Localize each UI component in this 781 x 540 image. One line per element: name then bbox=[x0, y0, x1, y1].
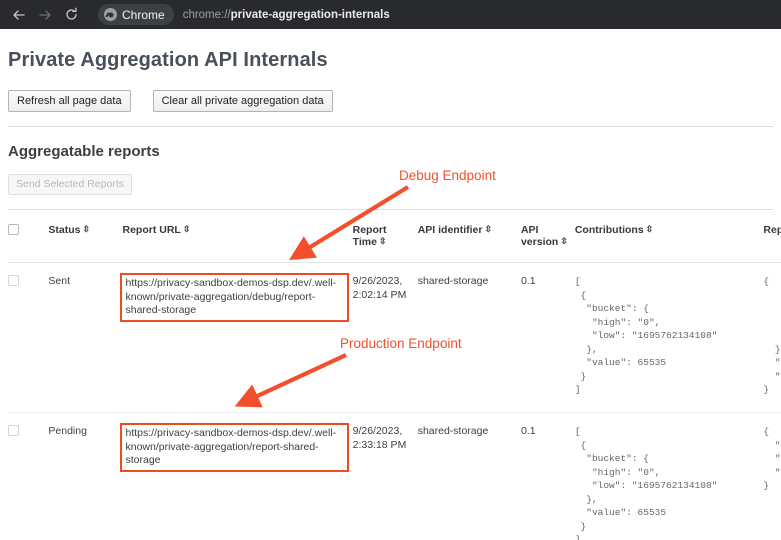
row-status: Pending bbox=[48, 413, 122, 540]
page-content: Private Aggregation API Internals Refres… bbox=[0, 29, 781, 540]
section-title-aggregatable-reports: Aggregatable reports bbox=[8, 143, 773, 160]
row-contributions: [ { "bucket": { "high": "0", "low": "169… bbox=[575, 413, 764, 540]
section-divider bbox=[8, 126, 773, 127]
reload-icon[interactable] bbox=[58, 2, 84, 28]
select-all-checkbox[interactable] bbox=[8, 224, 19, 235]
row-api-version: 0.1 bbox=[521, 263, 575, 413]
row-select-cell bbox=[8, 263, 48, 413]
header-contributions[interactable]: Contributions⇳ bbox=[575, 210, 764, 263]
header-select-all bbox=[8, 210, 48, 263]
header-api-identifier[interactable]: API identifier⇳ bbox=[418, 210, 521, 263]
refresh-all-page-data-button[interactable]: Refresh all page data bbox=[8, 90, 131, 112]
clear-all-private-aggregation-data-button[interactable]: Clear all private aggregation data bbox=[153, 90, 333, 112]
back-arrow-icon[interactable] bbox=[6, 2, 32, 28]
row-report-body: { "aggregatio "debug_key" "shared_inf } bbox=[763, 413, 781, 540]
aggregatable-reports-table: Status⇳ Report URL⇳ Report Time⇳ API ide… bbox=[8, 210, 781, 540]
row-report-url[interactable]: https://privacy-sandbox-demos-dsp.dev/.w… bbox=[122, 425, 346, 470]
row-checkbox[interactable] bbox=[8, 275, 19, 286]
report-body-json: { "aggregatio "debug_key" "shared_inf } bbox=[763, 425, 781, 493]
sort-icon[interactable]: ⇳ bbox=[183, 225, 191, 234]
page-title: Private Aggregation API Internals bbox=[8, 49, 773, 72]
row-contributions: [ { "bucket": { "high": "0", "low": "169… bbox=[575, 263, 764, 413]
address-bar-url: chrome://private-aggregation-internals bbox=[183, 9, 390, 21]
origin-chip-label: Chrome bbox=[122, 8, 165, 22]
page-actions: Refresh all page data Clear all private … bbox=[8, 90, 773, 112]
header-status[interactable]: Status⇳ bbox=[48, 210, 122, 263]
header-report-body[interactable]: Report Body⇳ bbox=[763, 210, 781, 263]
report-body-json: { "aggregatio "debug_c "key_id" "payload… bbox=[763, 275, 781, 397]
row-report-url[interactable]: https://privacy-sandbox-demos-dsp.dev/.w… bbox=[122, 275, 346, 320]
header-api-identifier-label: API identifier bbox=[418, 224, 483, 236]
row-status: Sent bbox=[48, 263, 122, 413]
header-report-time[interactable]: Report Time⇳ bbox=[353, 210, 418, 263]
sort-icon[interactable]: ⇳ bbox=[484, 225, 492, 234]
reports-table-container: Status⇳ Report URL⇳ Report Time⇳ API ide… bbox=[8, 209, 773, 540]
header-api-version-label: API version bbox=[521, 224, 558, 248]
row-report-url-cell: https://privacy-sandbox-demos-dsp.dev/.w… bbox=[122, 413, 352, 540]
row-api-identifier: shared-storage bbox=[418, 413, 521, 540]
header-status-label: Status bbox=[48, 224, 80, 236]
send-selected-reports-button[interactable]: Send Selected Reports bbox=[8, 174, 132, 195]
header-report-body-label: Report Body bbox=[763, 224, 781, 236]
contributions-json: [ { "bucket": { "high": "0", "low": "169… bbox=[575, 275, 758, 397]
header-contributions-label: Contributions bbox=[575, 224, 644, 236]
sort-icon[interactable]: ⇳ bbox=[83, 225, 91, 234]
annotation-label-debug-endpoint: Debug Endpoint bbox=[399, 168, 496, 183]
header-api-version[interactable]: API version⇳ bbox=[521, 210, 575, 263]
table-body: Sent https://privacy-sandbox-demos-dsp.d… bbox=[8, 263, 781, 540]
forward-arrow-icon[interactable] bbox=[32, 2, 58, 28]
contributions-json: [ { "bucket": { "high": "0", "low": "169… bbox=[575, 425, 758, 540]
origin-chip[interactable]: Chrome bbox=[98, 4, 174, 25]
row-report-time: 9/26/2023, 2:33:18 PM bbox=[353, 413, 418, 540]
table-head: Status⇳ Report URL⇳ Report Time⇳ API ide… bbox=[8, 210, 781, 263]
sort-icon[interactable]: ⇳ bbox=[379, 237, 387, 246]
row-report-url-cell: https://privacy-sandbox-demos-dsp.dev/.w… bbox=[122, 263, 352, 413]
row-select-cell bbox=[8, 413, 48, 540]
header-report-url-label: Report URL bbox=[122, 224, 180, 236]
table-header-row: Status⇳ Report URL⇳ Report Time⇳ API ide… bbox=[8, 210, 781, 263]
sort-icon[interactable]: ⇳ bbox=[646, 225, 654, 234]
sort-icon[interactable]: ⇳ bbox=[560, 237, 568, 246]
row-checkbox[interactable] bbox=[8, 425, 19, 436]
header-report-url[interactable]: Report URL⇳ bbox=[122, 210, 352, 263]
browser-toolbar: Chrome chrome://private-aggregation-inte… bbox=[0, 0, 781, 29]
address-bar[interactable]: Chrome chrome://private-aggregation-inte… bbox=[92, 4, 775, 25]
row-report-body: { "aggregatio "debug_c "key_id" "payload… bbox=[763, 263, 781, 413]
table-row: Pending https://privacy-sandbox-demos-ds… bbox=[8, 413, 781, 540]
annotation-label-production-endpoint: Production Endpoint bbox=[340, 336, 462, 351]
chrome-logo-icon bbox=[104, 8, 117, 21]
row-api-version: 0.1 bbox=[521, 413, 575, 540]
